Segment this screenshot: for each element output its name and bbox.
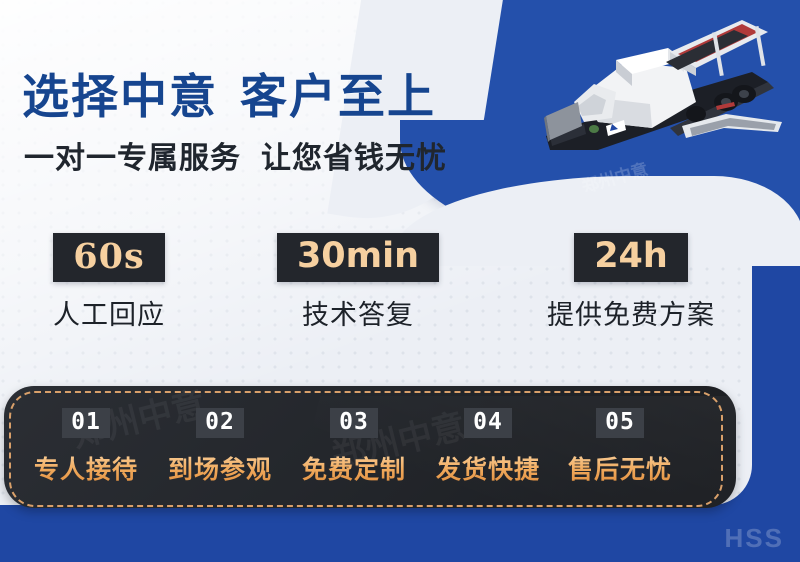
step-label: 到场参观 [152, 450, 288, 486]
feature-item-60s: 60s 人工回应 [14, 233, 204, 332]
step-label: 发货快捷 [420, 450, 556, 486]
subhead-left: 一对一专属服务 [24, 141, 241, 176]
feature-badge-value: 24h [574, 233, 688, 282]
feature-badge-value: 30min [277, 233, 439, 282]
step-item-01[interactable]: 01 专人接待 [18, 408, 154, 486]
headline-left: 选择中意 [22, 70, 218, 125]
banner-stage: 郑州中意 [0, 0, 800, 562]
step-item-05[interactable]: 05 售后无忧 [552, 408, 688, 486]
subhead-right: 让您省钱无忧 [261, 141, 447, 176]
feature-label: 提供免费方案 [516, 293, 746, 332]
feature-item-24h: 24h 提供免费方案 [516, 233, 746, 332]
step-label: 售后无忧 [552, 450, 688, 486]
step-label: 免费定制 [286, 450, 422, 486]
page-title: 选择中意客户至上 [22, 58, 436, 127]
step-item-02[interactable]: 02 到场参观 [152, 408, 288, 486]
step-number: 02 [196, 408, 244, 438]
mobile-crusher-machine-image: 郑州中意 [520, 10, 792, 192]
feature-label: 技术答复 [258, 293, 458, 332]
page-subtitle: 一对一专属服务让您省钱无忧 [24, 133, 447, 177]
feature-label: 人工回应 [14, 293, 204, 332]
brand-watermark: HSS [725, 523, 784, 554]
step-number: 04 [464, 408, 512, 438]
step-item-03[interactable]: 03 免费定制 [286, 408, 422, 486]
feature-badge-value: 60s [53, 233, 164, 282]
step-label: 专人接待 [18, 450, 154, 486]
feature-list: 60s 人工回应 30min 技术答复 24h 提供免费方案 [0, 233, 752, 343]
headline-right: 客户至上 [240, 70, 436, 125]
step-number: 01 [62, 408, 110, 438]
step-item-04[interactable]: 04 发货快捷 [420, 408, 556, 486]
step-number: 03 [330, 408, 378, 438]
step-number: 05 [596, 408, 644, 438]
feature-item-30min: 30min 技术答复 [258, 233, 458, 332]
svg-text:郑州中意: 郑州中意 [579, 159, 650, 192]
process-steps-row: 01 专人接待 02 到场参观 03 免费定制 04 发货快捷 05 售后无忧 [4, 386, 736, 508]
